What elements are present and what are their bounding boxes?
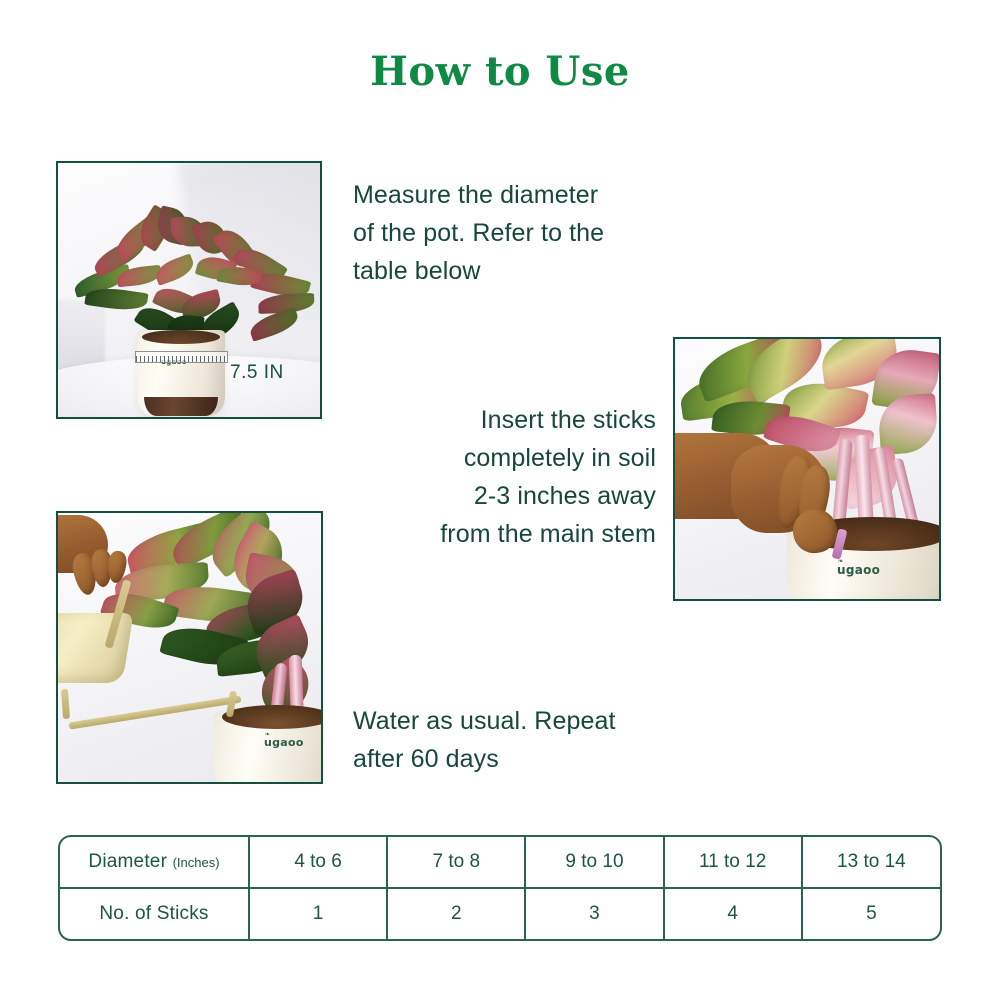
row-header-diameter-unit: (Inches) [173, 855, 220, 870]
page-title: How to Use [0, 48, 1000, 95]
cell-sticks-1: 1 [249, 888, 387, 939]
row-header-diameter-label: Diameter [88, 851, 167, 872]
ruler-overlay [135, 351, 228, 363]
water-scene: ❧ ugaoo [58, 513, 321, 782]
brand-text: ugaoo [264, 736, 304, 749]
table-row-sticks: No. of Sticks 1 2 3 4 5 [60, 888, 940, 939]
cell-sticks-2: 2 [387, 888, 525, 939]
spec-table: Diameter (Inches) 4 to 6 7 to 8 9 to 10 … [60, 837, 940, 939]
brand-text: ugaoo [837, 563, 880, 577]
measure-pot-diameter-photo: ❧ ugaoo 7.5 IN [56, 161, 322, 419]
infographic-page: How to Use [0, 0, 1000, 1000]
insert-scene: ❧ ugaoo [675, 339, 939, 599]
cell-diameter-5: 13 to 14 [802, 837, 940, 888]
diameter-measurement-label: 7.5 IN [230, 362, 284, 384]
ugaoo-logo: ❧ ugaoo [264, 733, 304, 748]
cell-diameter-1: 4 to 6 [249, 837, 387, 888]
pot-base [144, 397, 218, 416]
step-insert-text: Insert the sticks completely in soil 2-3… [400, 401, 656, 553]
cell-sticks-3: 3 [525, 888, 663, 939]
step-measure-text: Measure the diameter of the pot. Refer t… [353, 176, 683, 290]
table-row-diameter: Diameter (Inches) 4 to 6 7 to 8 9 to 10 … [60, 837, 940, 888]
plant-pot: ❧ ugaoo [214, 711, 323, 784]
soil [222, 705, 323, 729]
plant-pot: ❧ ugaoo [137, 330, 225, 416]
cell-sticks-5: 5 [802, 888, 940, 939]
row-header-sticks: No. of Sticks [60, 888, 249, 939]
step-water-text: Water as usual. Repeat after 60 days [353, 702, 683, 778]
row-header-diameter: Diameter (Inches) [60, 837, 249, 888]
soil [142, 330, 219, 344]
stick-quantity-table: Diameter (Inches) 4 to 6 7 to 8 9 to 10 … [58, 835, 942, 941]
measure-scene: ❧ ugaoo 7.5 IN [58, 163, 320, 417]
cell-sticks-4: 4 [664, 888, 802, 939]
cell-diameter-4: 11 to 12 [664, 837, 802, 888]
cell-diameter-3: 9 to 10 [525, 837, 663, 888]
ugaoo-logo: ❧ ugaoo [837, 559, 880, 576]
insert-stick-in-soil-photo: ❧ ugaoo [673, 337, 941, 601]
cell-diameter-2: 7 to 8 [387, 837, 525, 888]
watering-plant-photo: ❧ ugaoo [56, 511, 323, 784]
row-header-sticks-label: No. of Sticks [99, 903, 208, 924]
